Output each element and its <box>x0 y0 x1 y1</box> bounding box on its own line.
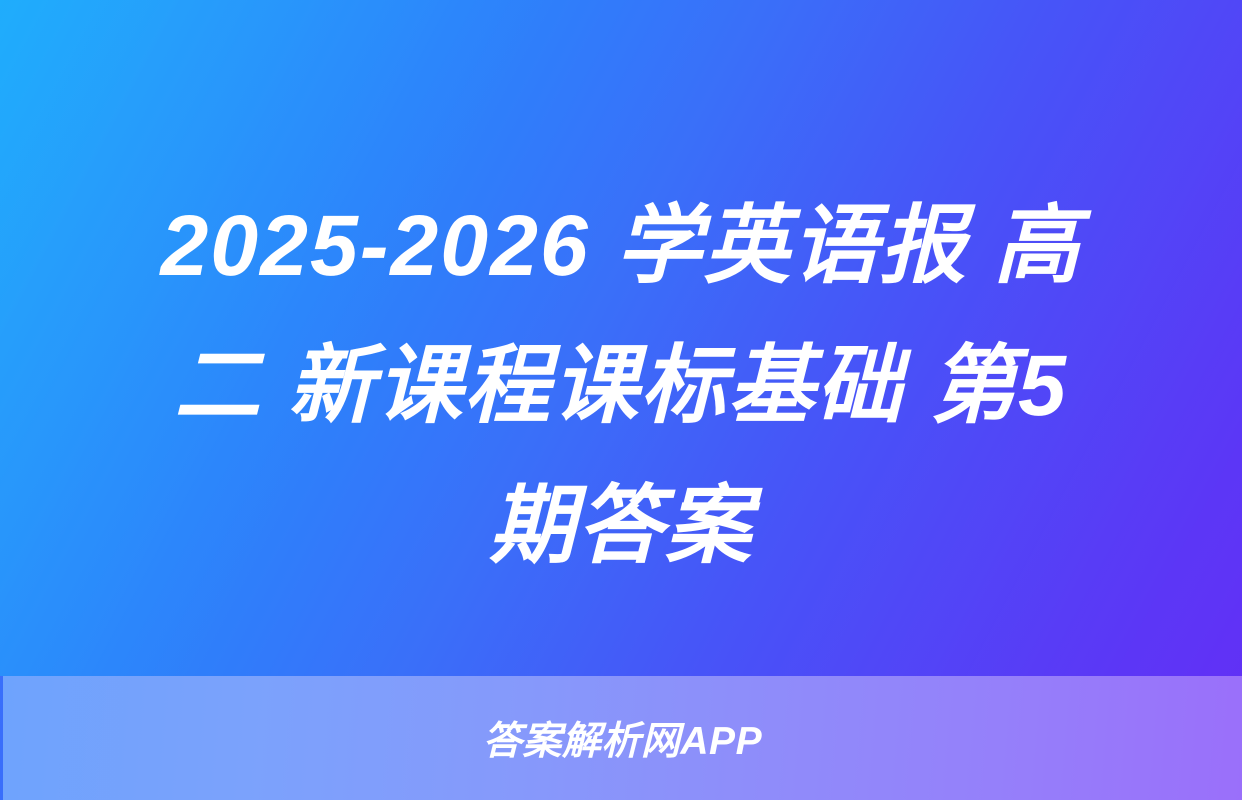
title-line-2: 二 新课程课标基础 第5 <box>58 316 1184 456</box>
page-title: 2025-2026 学英语报 高 二 新课程课标基础 第5 期答案 <box>0 176 1242 596</box>
title-line-1: 2025-2026 学英语报 高 <box>58 176 1184 316</box>
answer-cover-card: 2025-2026 学英语报 高 二 新课程课标基础 第5 期答案 答案解析网A… <box>0 0 1242 800</box>
title-line-3: 期答案 <box>58 456 1184 596</box>
app-promo-banner-label: 答案解析网APP <box>483 710 762 766</box>
app-promo-banner[interactable]: 答案解析网APP <box>0 676 1242 800</box>
